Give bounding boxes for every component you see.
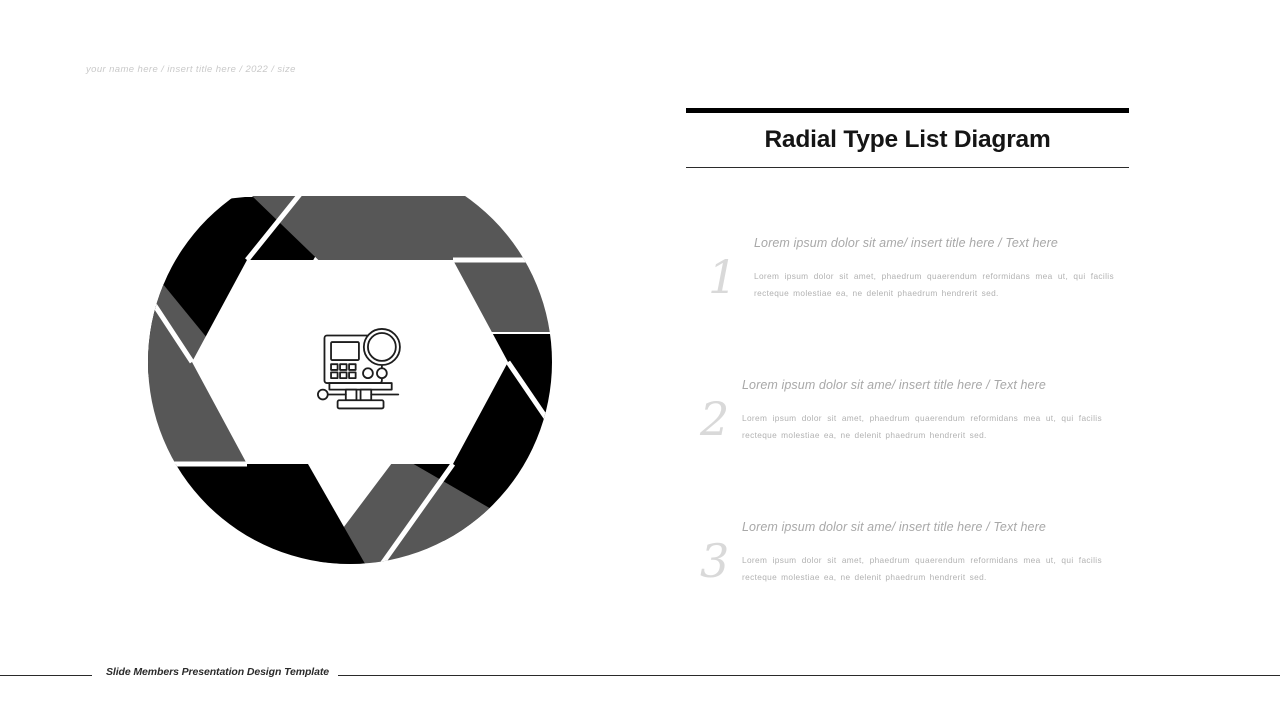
list-item-heading: Lorem ipsum dolor sit ame/ insert title … xyxy=(754,236,1114,251)
aperture-svg xyxy=(140,152,560,572)
list-item-description: Lorem ipsum dolor sit amet, phaedrum qua… xyxy=(742,552,1102,586)
slide-footer: Slide Members Presentation Design Templa… xyxy=(0,666,1280,686)
list-item[interactable]: 3 Lorem ipsum dolor sit ame/ insert titl… xyxy=(686,520,1146,662)
footer-rule-right xyxy=(338,675,1280,676)
footer-rule-left xyxy=(0,675,92,676)
list-item-body: Lorem ipsum dolor sit ame/ insert title … xyxy=(742,520,1102,586)
list-item-number: 1 xyxy=(708,254,737,300)
title-section: Radial Type List Diagram xyxy=(686,108,1129,168)
list-item[interactable]: 2 Lorem ipsum dolor sit ame/ insert titl… xyxy=(686,378,1146,520)
aperture-radial-diagram[interactable] xyxy=(140,152,560,572)
page-title: Radial Type List Diagram xyxy=(686,127,1129,154)
radial-list-items: 1 Lorem ipsum dolor sit ame/ insert titl… xyxy=(686,236,1146,662)
title-block: Radial Type List Diagram xyxy=(686,113,1129,168)
list-item-description: Lorem ipsum dolor sit amet, phaedrum qua… xyxy=(754,268,1114,302)
list-item-body: Lorem ipsum dolor sit ame/ insert title … xyxy=(742,378,1102,444)
footer-label: Slide Members Presentation Design Templa… xyxy=(106,666,329,678)
list-item-heading: Lorem ipsum dolor sit ame/ insert title … xyxy=(742,378,1102,393)
list-item-description: Lorem ipsum dolor sit amet, phaedrum qua… xyxy=(742,410,1102,444)
list-item-body: Lorem ipsum dolor sit ame/ insert title … xyxy=(754,236,1114,302)
slide-credit-line: your name here / insert title here / 202… xyxy=(86,64,296,75)
list-item-heading: Lorem ipsum dolor sit ame/ insert title … xyxy=(742,520,1102,535)
list-item-number: 2 xyxy=(700,396,729,442)
list-item[interactable]: 1 Lorem ipsum dolor sit ame/ insert titl… xyxy=(686,236,1146,378)
aperture-blade-5 xyxy=(140,464,372,572)
list-item-number: 3 xyxy=(700,538,729,584)
